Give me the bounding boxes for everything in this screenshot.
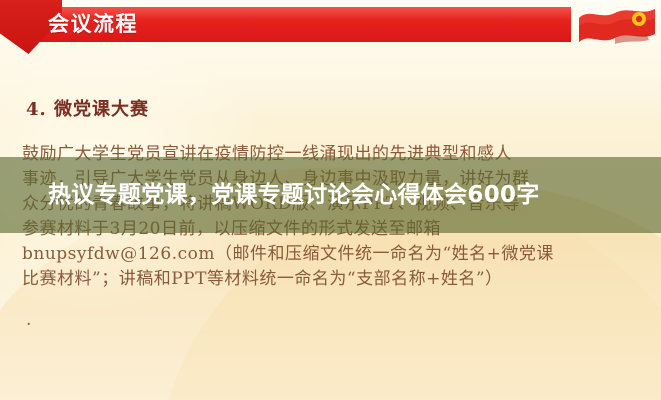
document-page: 会议流程 4. 微党课大赛 鼓励广大学生党员宣讲在疫情防控一线涌现出的先进典型和… bbox=[0, 0, 661, 400]
banner-title: 会议流程 bbox=[48, 7, 138, 42]
section-heading: 4. 微党课大赛 bbox=[26, 95, 149, 121]
body-line: 比赛材料”；讲稿和PPT等材料统一命名为“支部名称+姓名”） bbox=[22, 267, 644, 292]
body-line: bnupsyfdw@126.com（邮件和压缩文件统一命名为“姓名+微党课 bbox=[22, 242, 644, 267]
trailing-punctuation: . bbox=[26, 310, 31, 330]
header-banner: 会议流程 bbox=[0, 0, 661, 56]
caption-text: 热议专题党课，党课专题讨论会心得体会600字 bbox=[0, 180, 554, 211]
waving-party-flag-icon bbox=[575, 4, 657, 52]
caption-overlay: 热议专题党课，党课专题讨论会心得体会600字 bbox=[0, 157, 661, 233]
